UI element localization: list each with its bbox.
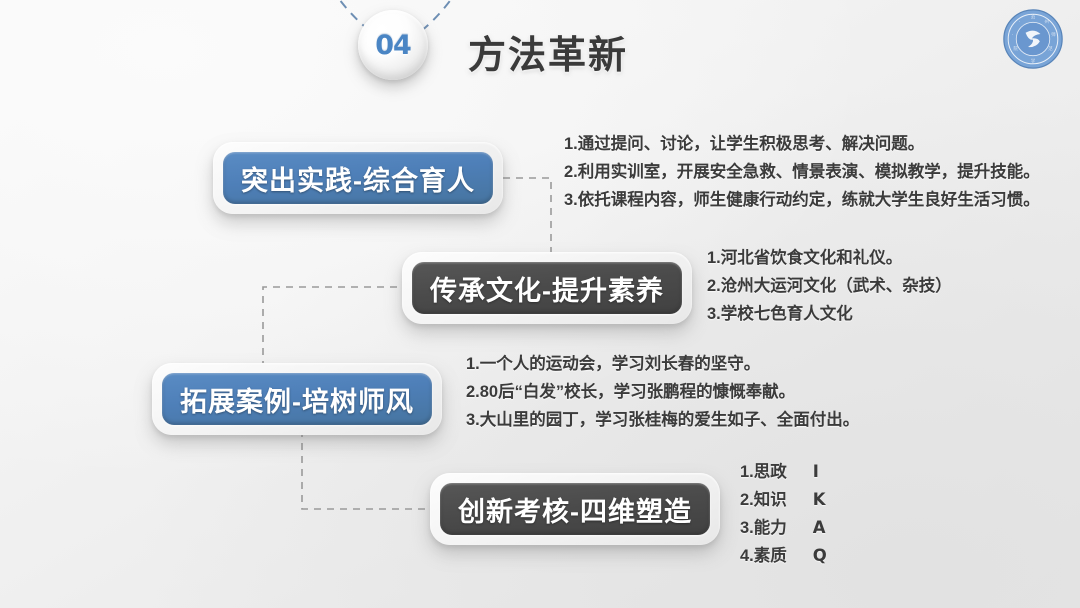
detail-text: 4.素质 bbox=[740, 542, 787, 570]
flow-box-2-details: 1.河北省饮食文化和礼仪。 2.沧州大运河文化（武术、杂技） 3.学校七色育人文… bbox=[707, 244, 952, 328]
flow-box-4-face: 创新考核-四维塑造 bbox=[440, 483, 710, 535]
detail-line: 3.大山里的园丁，学习张桂梅的爱生如子、全面付出。 bbox=[466, 406, 859, 434]
flow-box-2-face: 传承文化-提升素养 bbox=[412, 262, 682, 314]
detail-line: 3.能力 A bbox=[740, 514, 827, 542]
detail-tag: K bbox=[813, 486, 826, 514]
flow-box-1-face: 突出实践-综合育人 bbox=[223, 152, 493, 204]
detail-line: 2.知识 K bbox=[740, 486, 827, 514]
detail-text: 2.知识 bbox=[740, 486, 787, 514]
detail-line: 1.思政 I bbox=[740, 458, 827, 486]
detail-text: 3.能力 bbox=[740, 514, 787, 542]
detail-line: 2.沧州大运河文化（武术、杂技） bbox=[707, 272, 952, 300]
flow-box-4-label: 创新考核-四维塑造 bbox=[458, 490, 692, 529]
flow-box-3[interactable]: 拓展案例-培树师风 bbox=[152, 363, 442, 435]
detail-line: 3.学校七色育人文化 bbox=[707, 300, 952, 328]
flow-box-2-label: 传承文化-提升素养 bbox=[430, 269, 664, 308]
flow-box-1-label: 突出实践-综合育人 bbox=[241, 159, 475, 198]
detail-line: 3.依托课程内容，师生健康行动约定，练就大学生良好生活习惯。 bbox=[564, 186, 1040, 214]
detail-text: 1.思政 bbox=[740, 458, 787, 486]
detail-line: 1.一个人的运动会，学习刘长春的坚守。 bbox=[466, 350, 859, 378]
detail-tag: A bbox=[813, 514, 826, 542]
detail-tag: I bbox=[813, 458, 819, 486]
flow-box-4[interactable]: 创新考核-四维塑造 bbox=[430, 473, 720, 545]
slide-canvas: 04 方法革新 沧州师 范学院 ·· 突出实践-综合育人 1.通过提 bbox=[0, 0, 1080, 608]
detail-line: 4.素质 Q bbox=[740, 542, 827, 570]
flow-box-3-details: 1.一个人的运动会，学习刘长春的坚守。 2.80后“白发”校长，学习张鹏程的慷慨… bbox=[466, 350, 859, 434]
flow-box-3-label: 拓展案例-培树师风 bbox=[180, 380, 414, 419]
detail-line: 2.利用实训室，开展安全急救、情景表演、模拟教学，提升技能。 bbox=[564, 158, 1040, 186]
detail-line: 2.80后“白发”校长，学习张鹏程的慷慨奉献。 bbox=[466, 378, 859, 406]
flow-box-4-details: 1.思政 I 2.知识 K 3.能力 A 4.素质 Q bbox=[740, 458, 827, 570]
detail-tag: Q bbox=[813, 542, 827, 570]
detail-line: 1.河北省饮食文化和礼仪。 bbox=[707, 244, 952, 272]
flow-box-2[interactable]: 传承文化-提升素养 bbox=[402, 252, 692, 324]
flow-box-3-face: 拓展案例-培树师风 bbox=[162, 373, 432, 425]
flow-box-1[interactable]: 突出实践-综合育人 bbox=[213, 142, 503, 214]
flow-box-1-details: 1.通过提问、讨论，让学生积极思考、解决问题。 2.利用实训室，开展安全急救、情… bbox=[564, 130, 1040, 214]
detail-line: 1.通过提问、讨论，让学生积极思考、解决问题。 bbox=[564, 130, 1040, 158]
